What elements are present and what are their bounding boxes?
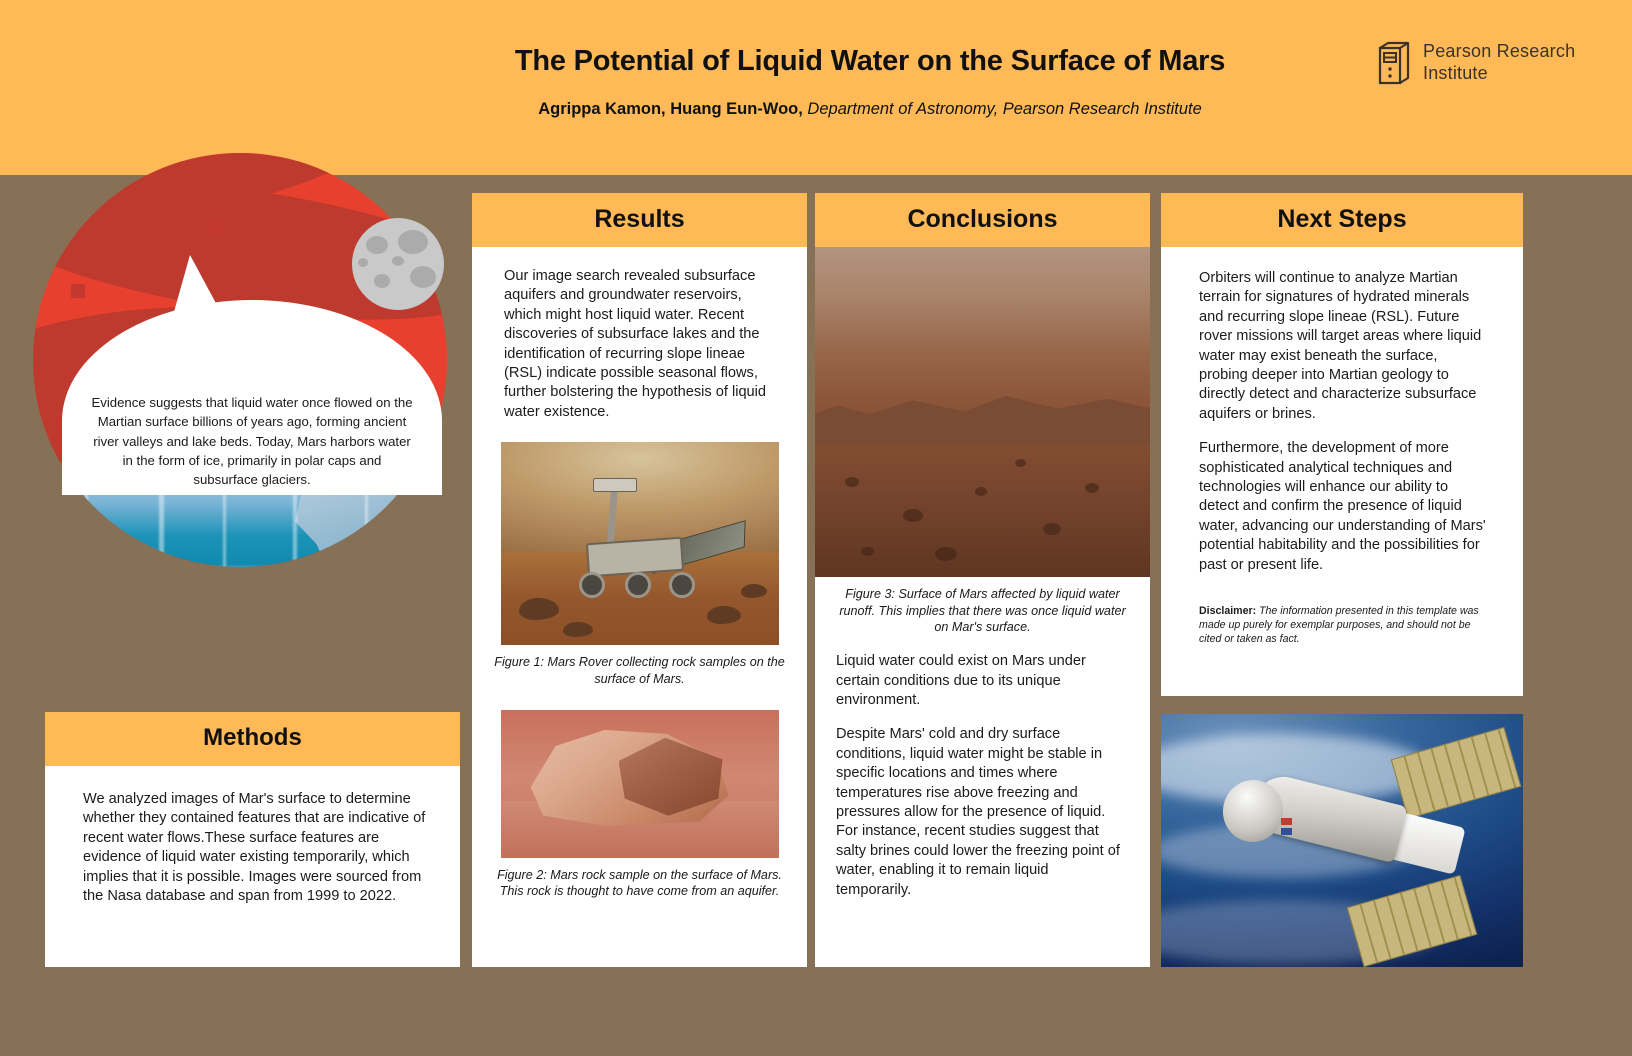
panel-methods-title: Methods [45, 712, 460, 766]
figure-2: Figure 2: Mars rock sample on the surfac… [472, 710, 807, 900]
moon-illustration [352, 218, 444, 310]
conclusions-paragraph-1: Liquid water could exist on Mars under c… [836, 652, 1122, 710]
figure-3-caption: Figure 3: Surface of Mars affected by li… [815, 577, 1150, 636]
disclaimer: Disclaimer: The information presented in… [1161, 575, 1523, 647]
conclusions-paragraph-2: Despite Mars' cold and dry surface condi… [836, 725, 1122, 900]
authors-line: Agrippa Kamon, Huang Eun-Woo, Department… [420, 100, 1320, 119]
satellite-orbiter-photo [1161, 714, 1523, 967]
panel-next-steps: Next Steps Orbiters will continue to ana… [1161, 193, 1523, 696]
methods-paragraph-1: We analyzed images of Mar's surface to d… [83, 790, 434, 906]
author-affiliation: Department of Astronomy, Pearson Researc… [807, 100, 1201, 118]
panel-results-body: Our image search revealed subsurface aqu… [472, 247, 807, 422]
panel-methods: Methods We analyzed images of Mar's surf… [45, 712, 460, 967]
panel-next-steps-body: Orbiters will continue to analyze Martia… [1161, 247, 1523, 575]
solar-panel [1391, 727, 1522, 819]
solar-panel [1347, 875, 1478, 967]
logo-text: Pearson Research Institute [1423, 41, 1575, 83]
panel-next-steps-title: Next Steps [1161, 193, 1523, 247]
subsurface-ice-photo [55, 470, 455, 690]
poster-canvas: The Potential of Liquid Water on the Sur… [0, 0, 1632, 1056]
results-paragraph-1: Our image search revealed subsurface aqu… [504, 267, 773, 422]
panel-methods-body: We analyzed images of Mar's surface to d… [45, 766, 460, 906]
figure-3: Figure 3: Surface of Mars affected by li… [815, 247, 1150, 636]
panel-conclusions-body: Liquid water could exist on Mars under c… [815, 636, 1150, 900]
mars-rover-photo [501, 442, 779, 645]
building-icon [1378, 40, 1412, 85]
figure-1-caption: Figure 1: Mars Rover collecting rock sam… [472, 645, 807, 687]
next-steps-paragraph-2: Furthermore, the development of more sop… [1199, 439, 1489, 575]
panel-results: Results Our image search revealed subsur… [472, 193, 807, 967]
figure-2-caption: Figure 2: Mars rock sample on the surfac… [472, 858, 807, 900]
panel-conclusions: Conclusions Figure 3: Surface of Mars af… [815, 193, 1150, 967]
panel-results-title: Results [472, 193, 807, 247]
author-names: Agrippa Kamon, Huang Eun-Woo, [538, 100, 803, 118]
speech-bubble-text: Evidence suggests that liquid water once… [90, 393, 414, 489]
page-title: The Potential of Liquid Water on the Sur… [420, 45, 1320, 78]
figure-1: Figure 1: Mars Rover collecting rock sam… [472, 442, 807, 687]
panel-conclusions-title: Conclusions [815, 193, 1150, 247]
institution-logo: Pearson Research Institute [1378, 40, 1575, 85]
mars-rock-sample-photo [501, 710, 779, 858]
mars-surface-runoff-photo [815, 247, 1150, 577]
next-steps-paragraph-1: Orbiters will continue to analyze Martia… [1199, 269, 1489, 424]
disclaimer-label: Disclaimer: [1199, 605, 1256, 617]
